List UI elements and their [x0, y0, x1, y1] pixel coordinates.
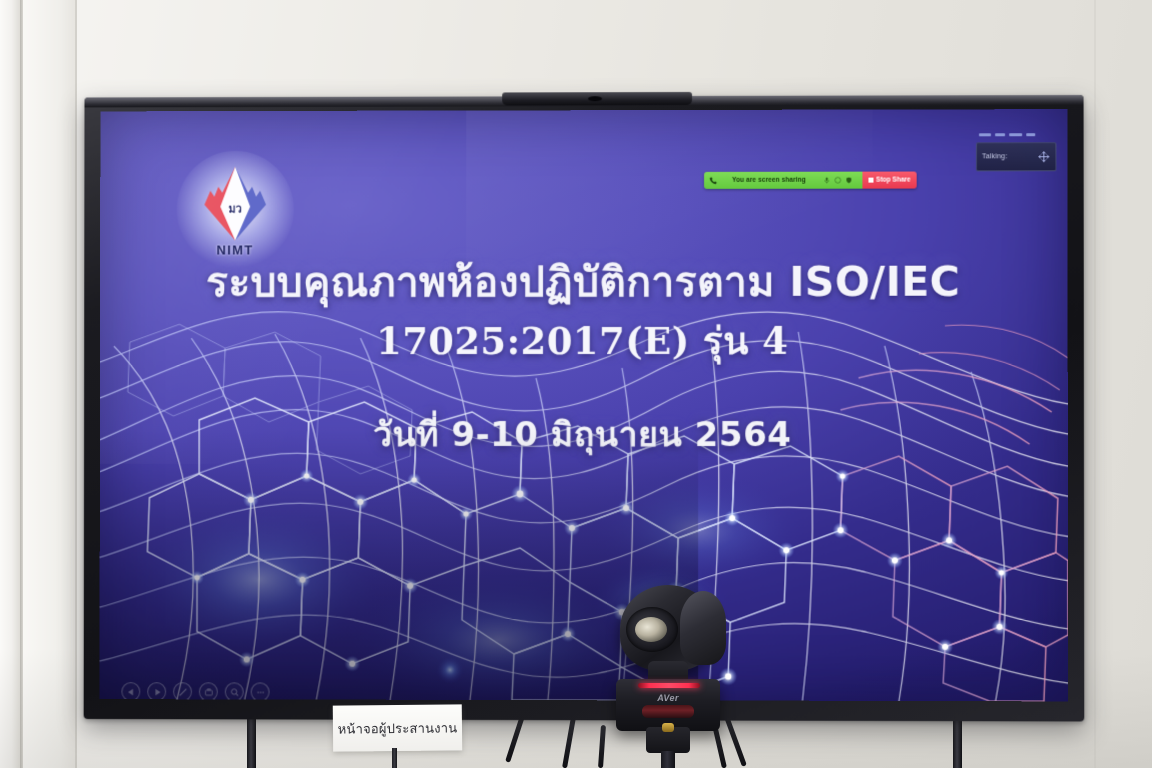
webcam-lens-icon	[588, 96, 602, 101]
indicator-bar	[995, 134, 1005, 137]
ellipsis-icon	[255, 687, 265, 697]
svg-text:มว: มว	[229, 203, 242, 216]
stop-square-icon	[868, 178, 873, 183]
talking-label: Talking:	[982, 153, 1007, 160]
webcam-bar	[502, 92, 692, 105]
indicator-bar	[979, 134, 991, 137]
talking-panel[interactable]: Talking:	[976, 142, 1057, 171]
indicator-bar	[1009, 133, 1022, 136]
previous-slide-button[interactable]	[121, 682, 140, 701]
nimt-logo: มว NIMT	[192, 163, 278, 267]
more-options-button[interactable]	[251, 682, 270, 701]
aver-conference-camera: AVer	[606, 585, 726, 768]
sign-post	[392, 748, 397, 768]
stop-share-label: Stop Share	[876, 177, 910, 184]
screenshot-button[interactable]	[199, 682, 218, 701]
share-status-area: You are screen sharing	[704, 172, 862, 189]
pen-icon	[178, 687, 188, 697]
indicator-bar	[1026, 133, 1035, 136]
tv-stand-leg-left	[247, 718, 256, 768]
zoom-button[interactable]	[225, 682, 244, 701]
annotation-toolbar[interactable]	[121, 682, 269, 701]
sign-text: หน้าจอผู้ประสานงาน	[338, 717, 458, 739]
stop-share-button[interactable]: Stop Share	[862, 172, 917, 189]
phone-icon	[709, 176, 717, 184]
triangle-right-icon	[152, 687, 162, 697]
coordinator-screen-sign: หน้าจอผู้ประสานงาน	[333, 704, 462, 751]
microphone-icon[interactable]	[823, 177, 830, 184]
camera-mount	[646, 727, 690, 753]
camera-ir-window	[642, 705, 694, 718]
tv-stand-leg-right	[953, 718, 962, 768]
camera-icon	[203, 687, 213, 697]
next-slide-button[interactable]	[147, 682, 166, 701]
camera-pan-housing	[680, 591, 726, 665]
camera-lens-icon	[635, 617, 667, 642]
share-status-text: You are screen sharing	[722, 177, 818, 184]
talking-indicator-bars	[979, 131, 1051, 138]
pause-circle-icon[interactable]	[834, 177, 841, 184]
camera-head	[620, 585, 716, 671]
nimt-acronym: NIMT	[192, 242, 277, 257]
annotate-pen-button[interactable]	[173, 682, 192, 701]
camera-support-pole	[661, 751, 675, 768]
camera-lens-ring	[626, 607, 678, 652]
triangle-left-icon	[126, 687, 136, 697]
security-shield-icon[interactable]	[845, 177, 852, 184]
tv-screen: มว NIMT You are screen sharing	[100, 109, 1069, 701]
camera-mount-screw	[662, 723, 674, 732]
television: มว NIMT You are screen sharing	[82, 96, 1082, 720]
screen-share-bar: You are screen sharing	[704, 172, 917, 189]
camera-brand-label: AVer	[616, 693, 720, 703]
magnifier-icon	[229, 687, 239, 697]
camera-status-led	[638, 683, 700, 688]
share-mini-icon-group	[823, 177, 856, 184]
move-cursor-icon[interactable]	[1037, 150, 1050, 163]
nimt-diamond-logo-icon: มว	[200, 163, 270, 245]
